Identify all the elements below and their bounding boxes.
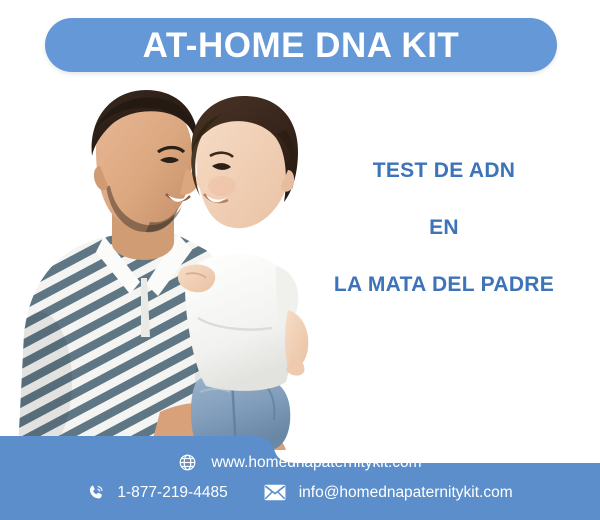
headline-block: TEST DE ADN EN LA MATA DEL PADRE bbox=[300, 160, 588, 295]
globe-icon bbox=[178, 453, 197, 472]
footer-website-row: www.homednapaternitykit.com bbox=[0, 453, 600, 472]
envelope-icon bbox=[264, 484, 286, 501]
headline-line-2: EN bbox=[300, 217, 588, 238]
footer-contact-row: 1-877-219-4485 info@homednapaternitykit.… bbox=[0, 483, 600, 502]
header-banner-pill: AT-HOME DNA KIT bbox=[45, 18, 557, 72]
headline-line-1: TEST DE ADN bbox=[300, 160, 588, 181]
phone-number[interactable]: 1-877-219-4485 bbox=[117, 485, 227, 501]
website-url[interactable]: www.homednapaternitykit.com bbox=[211, 455, 421, 471]
promo-banner: AT-HOME DNA KIT bbox=[0, 0, 600, 520]
headline-line-3: LA MATA DEL PADRE bbox=[300, 274, 588, 295]
page-title: AT-HOME DNA KIT bbox=[143, 28, 460, 63]
email-address[interactable]: info@homednapaternitykit.com bbox=[299, 485, 513, 501]
footer-contact-bar: www.homednapaternitykit.com 1-877-219-44… bbox=[0, 436, 600, 520]
phone-icon bbox=[87, 483, 106, 502]
father-holding-toddler-photo bbox=[0, 82, 330, 450]
